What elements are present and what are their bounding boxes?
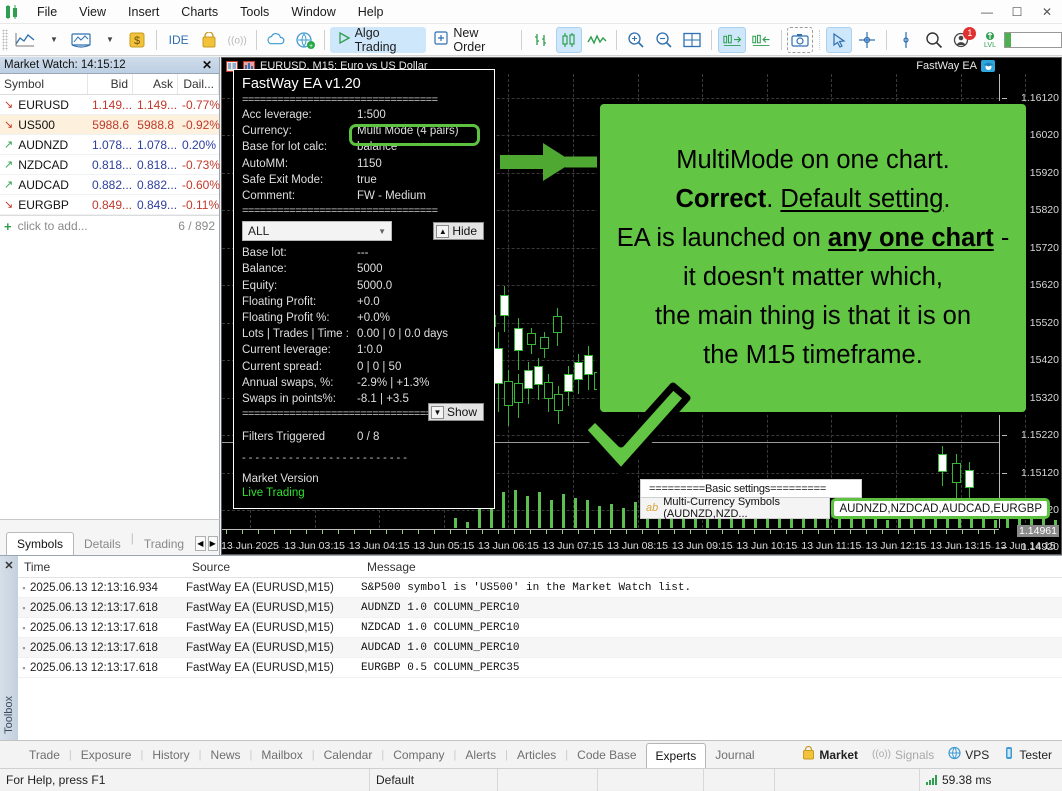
status-cell-6 [775, 769, 920, 791]
ea-stat-row: Current spread:0 | 0 | 50 [242, 359, 486, 375]
candlestick [504, 370, 513, 426]
restore-icon[interactable]: ☐ [1002, 0, 1032, 24]
ea-filters-label: Filters Triggered [242, 429, 357, 445]
candlestick [494, 332, 503, 412]
settings-param-row: ab Multi-Currency Symbols (AUDNZD,NZD... [640, 498, 830, 519]
price-tick [1002, 98, 1007, 99]
log-time: 2025.06.13 12:13:17.618 [30, 622, 186, 634]
time-label: 13 Jun 2025 [221, 540, 279, 552]
toolbox-tab-journal[interactable]: Journal [706, 745, 763, 765]
triangle-down-icon: ▼ [431, 406, 444, 419]
toolbox-tab-company[interactable]: Company [384, 745, 453, 765]
log-message: S&P500 symbol is 'US500' in the Market W… [361, 582, 1062, 594]
bid-cell: 1.149... [88, 98, 133, 112]
toolbox-tab-alerts[interactable]: Alerts [456, 745, 505, 765]
candlestick-type-icon[interactable] [556, 27, 582, 53]
ask-cell: 1.078... [133, 138, 178, 152]
chevron-down-icon-1[interactable]: ▼ [40, 27, 66, 53]
symbol-label: AUDCAD [18, 178, 69, 192]
chevron-down-icon-2[interactable]: ▼ [96, 27, 122, 53]
callout-line-2-end: . [943, 185, 950, 213]
ea-stat-label: Floating Profit: [242, 294, 357, 310]
ea-panel-title: FastWay EA v1.20 [242, 76, 486, 92]
candlestick [540, 332, 549, 358]
arrow-up-icon: ↗ [4, 138, 13, 151]
ea-stat-label: Equity: [242, 278, 357, 294]
symbol-count: 6 / 892 [178, 219, 215, 233]
callout-line-2-underline: Default setting [780, 185, 943, 213]
algo-trading-label: Algo Trading [355, 26, 419, 54]
toolbox-tab-trade[interactable]: Trade [20, 745, 69, 765]
ea-stat-value: 5000 [357, 261, 383, 277]
ea-rows-top: Acc leverage:1:500Currency:Multi Mode (4… [242, 107, 486, 204]
ea-smiley-icon [981, 60, 995, 72]
toolbox-tab-experts[interactable]: Experts [646, 743, 707, 769]
row-marker-icon: ▪ [18, 663, 30, 673]
vps-icon[interactable]: + [292, 27, 318, 53]
ea-separator-1: ================================= [242, 94, 486, 106]
toolbox-vertical-label: Toolbox [3, 696, 15, 734]
chevron-down-icon: ▼ [378, 227, 386, 236]
menu-charts[interactable]: Charts [170, 2, 229, 22]
zoom-in-icon[interactable] [623, 27, 649, 53]
market-bag-icon[interactable] [196, 27, 222, 53]
market-watch-rows: ↘EURUSD1.149...1.149...-0.77%↘US5005988.… [0, 95, 219, 215]
bid-cell: 0.818... [88, 158, 133, 172]
candlestick [534, 358, 543, 400]
ea-stat-label: Lots | Trades | Time : [242, 326, 357, 342]
level-icon[interactable]: LVL [977, 27, 1003, 53]
toolbox-tab-history[interactable]: History [143, 745, 198, 765]
time-label: 13 Jun 10:15 [736, 540, 797, 552]
dollar-icon[interactable]: $ [124, 27, 150, 53]
ea-separator-dashed: - - - - - - - - - - - - - - - - - - - - … [242, 452, 486, 464]
bid-cell: 0.882... [88, 178, 133, 192]
level-progress-bar [1004, 32, 1062, 48]
tab-symbols[interactable]: Symbols [6, 532, 74, 556]
volume-bar [850, 518, 853, 528]
bid-cell: 0.849... [88, 198, 133, 212]
column-header-daily[interactable]: Dail... [178, 74, 219, 94]
ea-info-label: Acc leverage: [242, 107, 357, 123]
time-label: 13 Jun 09:15 [672, 540, 733, 552]
log-time: 2025.06.13 12:13:17.618 [30, 642, 186, 654]
ea-info-label: Base for lot calc: [242, 139, 357, 155]
ea-stat-value: -8.1 | +3.5 [357, 391, 409, 407]
candlestick [524, 362, 533, 404]
volume-bar [550, 500, 553, 528]
log-header: Time Source Message [18, 556, 1062, 578]
ea-stat-label: Base lot: [242, 245, 357, 261]
ea-info-value: FW - Medium [357, 188, 426, 204]
column-header-ask[interactable]: Ask [133, 74, 178, 94]
ea-info-value: 1:500 [357, 107, 386, 123]
symbol-label: NZDCAD [18, 158, 68, 172]
toolbox-panel: ✕ Toolbox Time Source Message ▪2025.06.1… [0, 555, 1062, 740]
status-cell-4 [598, 769, 704, 791]
market-watch-tabs: Symbols Details | Trading ◀ ▶ [0, 519, 220, 555]
status-profile[interactable]: Default [370, 769, 498, 791]
time-label: 13 Jun 13:15 [930, 540, 991, 552]
ask-cell: 0.818... [133, 158, 178, 172]
toolbox-close-icon[interactable]: ✕ [4, 559, 13, 572]
tabs-next-button[interactable]: ▶ [208, 536, 218, 551]
daily-change-cell: -0.60% [178, 178, 219, 192]
ea-market-version: Market Version [242, 473, 486, 485]
algo-trading-button[interactable]: Algo Trading [330, 27, 427, 53]
symbol-cell: ↘US500 [0, 118, 88, 132]
ask-cell: 5988.8 [133, 118, 178, 132]
volume-bar [454, 518, 457, 528]
toolbox-tab-code-base[interactable]: Code Base [568, 745, 645, 765]
market-watch-row-audcad[interactable]: ↗AUDCAD0.882...0.882...-0.60% [0, 175, 219, 195]
volume-bar [610, 504, 613, 528]
vps-icon [948, 746, 961, 763]
tabs-prev-button[interactable]: ◀ [195, 536, 205, 551]
ea-symbol-select[interactable]: ALL ▼ [242, 221, 392, 241]
auto-scroll-icon[interactable] [748, 27, 774, 53]
annotation-callout: MultiMode on one chart. Correct. Default… [597, 101, 1029, 415]
log-time: 2025.06.13 12:13:17.618 [30, 662, 186, 674]
bid-cell: 5988.6 [88, 118, 133, 132]
ea-info-row: Acc leverage:1:500 [242, 107, 486, 123]
menu-help[interactable]: Help [347, 2, 395, 22]
window-controls: — ☐ ✕ [972, 0, 1062, 24]
time-axis[interactable]: 13 Jun 202513 Jun 03:1513 Jun 04:1513 Ju… [222, 528, 999, 554]
ask-cell: 1.149... [133, 98, 178, 112]
market-watch-add-row[interactable]: + click to add... 6 / 892 [0, 215, 219, 236]
symbol-label: US500 [18, 118, 55, 132]
volume-bar [994, 520, 997, 528]
bar-chart-icon[interactable] [68, 27, 94, 53]
ea-stat-row: Balance:5000 [242, 261, 486, 277]
signal-strength-icon [926, 775, 937, 785]
row-marker-icon: ▪ [18, 623, 30, 633]
status-cell-5 [704, 769, 775, 791]
signals-tab-label: Signals [895, 748, 934, 762]
row-marker-icon: ▪ [18, 603, 30, 613]
ea-stat-row: Current leverage:1:0.0 [242, 342, 486, 358]
ea-stat-value: --- [357, 245, 369, 261]
settings-param-label: Multi-Currency Symbols (AUDNZD,NZD... [663, 496, 829, 520]
volume-bar [586, 500, 589, 528]
status-cell-3 [498, 769, 598, 791]
ea-info-value: true [357, 172, 377, 188]
log-row[interactable]: ▪2025.06.13 12:13:17.618FastWay EA (EURU… [18, 638, 1062, 658]
candlestick [564, 366, 573, 406]
add-symbol-label: click to add... [18, 219, 88, 233]
toolbox-tab-articles[interactable]: Articles [508, 745, 565, 765]
log-message: AUDCAD 1.0 COLUMN_PERC10 [361, 642, 1062, 654]
volume-bar [598, 506, 601, 528]
log-row[interactable]: ▪2025.06.13 12:13:17.618FastWay EA (EURU… [18, 618, 1062, 638]
column-header-source[interactable]: Source [186, 556, 361, 577]
vertical-line-icon[interactable] [893, 27, 919, 53]
market-tab-label: Market [819, 748, 858, 762]
volume-bar [634, 502, 637, 528]
toolbox-tab-bar: Trade|Exposure|History|News|Mailbox|Cale… [0, 740, 1062, 768]
symbol-cell: ↘EURUSD [0, 98, 88, 112]
ea-stat-row: Floating Profit:+0.0 [242, 294, 486, 310]
ea-filters-value: 0 / 8 [357, 429, 379, 445]
callout-line-3-pre: EA is launched on [617, 224, 828, 252]
ea-show-label: Show [447, 405, 477, 419]
ea-symbol-select-value: ALL [248, 224, 269, 238]
symbol-label: EURUSD [18, 98, 69, 112]
market-watch-row-nzdcad[interactable]: ↗NZDCAD0.818...0.818...-0.73% [0, 155, 219, 175]
ea-info-row: Safe Exit Mode:true [242, 172, 486, 188]
symbol-label: AUDNZD [18, 138, 68, 152]
candlestick [527, 328, 536, 354]
ea-stat-value: 0 | 0 | 50 [357, 359, 401, 375]
tester-tab[interactable]: Tester [1003, 746, 1052, 763]
line-chart-icon[interactable] [12, 27, 38, 53]
row-marker-icon: ▪ [18, 643, 30, 653]
experts-log[interactable]: Time Source Message ▪2025.06.13 12:13:16… [18, 556, 1062, 740]
triangle-up-icon: ▲ [436, 225, 449, 238]
green-checkmark-annotation [575, 372, 695, 477]
toolbar-grip[interactable] [2, 29, 8, 51]
svg-text:+: + [309, 43, 313, 49]
volume-bar [502, 492, 505, 528]
arrow-down-icon: ↘ [4, 198, 13, 211]
log-source: FastWay EA (EURUSD,M15) [186, 642, 361, 654]
column-header-message[interactable]: Message [361, 556, 1062, 577]
plus-square-icon [434, 31, 448, 48]
time-label: 13 Jun 06:15 [478, 540, 539, 552]
toolbox-tab-right-items: Market ((o)) Signals VPS Tester [802, 746, 1062, 763]
log-message: EURGBP 0.5 COLUMN_PERC35 [361, 662, 1062, 674]
candlestick [500, 286, 509, 332]
time-label: 13 Jun 04:15 [349, 540, 410, 552]
candlestick [554, 386, 563, 424]
log-time: 2025.06.13 12:13:16.934 [30, 582, 186, 594]
ea-info-row: AutoMM:1150 [242, 156, 486, 172]
daily-change-cell: -0.77% [178, 98, 219, 112]
ea-show-button[interactable]: ▼ Show [428, 403, 484, 421]
time-label: 13 Jun 07:15 [543, 540, 604, 552]
screenshot-icon[interactable] [787, 27, 813, 53]
signals-icon[interactable]: ((o)) [224, 27, 250, 53]
toolbox-tab-exposure[interactable]: Exposure [72, 745, 141, 765]
ea-stat-row: Base lot:--- [242, 245, 486, 261]
plus-icon: + [4, 219, 12, 234]
market-watch-row-eurgbp[interactable]: ↘EURGBP0.849...0.849...-0.11% [0, 195, 219, 215]
volume-bar [622, 508, 625, 528]
row-marker-icon: ▪ [18, 583, 30, 593]
toolbox-sidebar: ✕ Toolbox [0, 556, 18, 740]
ea-info-value: 1150 [357, 156, 382, 172]
play-icon [338, 32, 350, 47]
status-help-text: For Help, press F1 [0, 769, 370, 791]
tab-details[interactable]: Details [74, 533, 131, 555]
ea-hide-label: Hide [452, 224, 477, 238]
menu-file[interactable]: File [26, 2, 68, 22]
market-watch-title: Market Watch: 14:15:12 [4, 59, 126, 71]
toolbox-tab-calendar[interactable]: Calendar [315, 745, 382, 765]
log-row[interactable]: ▪2025.06.13 12:13:16.934FastWay EA (EURU… [18, 578, 1062, 598]
volume-bar [982, 518, 985, 528]
time-label: 13 Jun 08:15 [607, 540, 668, 552]
ea-hide-button[interactable]: ▲ Hide [433, 222, 484, 240]
metatrader-logo-icon [0, 5, 26, 19]
bid-cell: 1.078... [88, 138, 133, 152]
log-message: AUDNZD 1.0 COLUMN_PERC10 [361, 602, 1062, 614]
ea-stat-label: Swaps in points%: [242, 391, 357, 407]
market-watch-panel: Market Watch: 14:15:12 ✕ Symbol Bid Ask … [0, 57, 220, 519]
ide-button[interactable]: IDE [163, 27, 194, 53]
daily-change-cell: -0.92% [178, 118, 219, 132]
svg-text:LVL: LVL [984, 42, 996, 49]
ea-stat-value: +0.0% [357, 310, 390, 326]
status-ping: 59.38 ms [920, 769, 1062, 791]
tester-tab-label: Tester [1019, 748, 1052, 762]
market-watch-close-icon[interactable]: ✕ [199, 58, 215, 72]
status-bar: For Help, press F1 Default 59.38 ms [0, 768, 1062, 790]
ea-stat-label: Floating Profit %: [242, 310, 357, 326]
ea-live-trading-status: Live Trading [242, 487, 486, 499]
toolbox-tab-news[interactable]: News [202, 745, 250, 765]
tester-icon [1003, 746, 1015, 763]
callout-line-2-dot: . [766, 185, 780, 213]
log-row[interactable]: ▪2025.06.13 12:13:17.618FastWay EA (EURU… [18, 658, 1062, 678]
signals-tab[interactable]: ((o)) Signals [872, 748, 934, 762]
menu-view[interactable]: View [68, 2, 117, 22]
price-tick [1002, 473, 1007, 474]
symbol-label: EURGBP [18, 198, 69, 212]
time-label: 13 Jun 11:15 [801, 540, 861, 552]
market-watch-row-audnzd[interactable]: ↗AUDNZD1.078...1.078...0.20% [0, 135, 219, 155]
svg-text:((o)): ((o)) [228, 35, 247, 46]
ea-stat-value: 1:0.0 [357, 342, 383, 358]
notification-badge: 1 [963, 27, 976, 40]
market-watch-row-us500[interactable]: ↘US5005988.65988.8-0.92% [0, 115, 219, 135]
volume-bar [946, 518, 949, 528]
log-source: FastWay EA (EURUSD,M15) [186, 582, 361, 594]
time-label: 13 Jun 14:15 [995, 540, 1056, 552]
settings-param-value: AUDNZD,NZDCAD,AUDCAD,EURGBP [831, 498, 1050, 519]
profile-icon[interactable]: 1 [949, 27, 975, 53]
ea-stat-row: Lots | Trades | Time :0.00 | 0 | 0.0 day… [242, 326, 486, 342]
callout-line-5: the M15 timeframe. [703, 341, 923, 369]
log-source: FastWay EA (EURUSD,M15) [186, 622, 361, 634]
column-header-bid[interactable]: Bid [88, 74, 133, 94]
cursor-icon[interactable] [826, 27, 852, 53]
line-type-icon[interactable] [584, 27, 610, 53]
chart-shift-icon[interactable] [718, 27, 746, 53]
status-ping-label: 59.38 ms [942, 773, 991, 787]
ea-info-row: Comment:FW - Medium [242, 188, 486, 204]
log-time: 2025.06.13 12:13:17.618 [30, 602, 186, 614]
price-label: 1.15120 [1021, 467, 1059, 479]
tab-trading[interactable]: Trading [134, 533, 194, 555]
ea-stat-row: Equity:5000.0 [242, 278, 486, 294]
callout-line-2-bold: Correct [676, 185, 767, 213]
ea-stat-label: Current leverage: [242, 342, 357, 358]
grid-icon[interactable] [679, 27, 705, 53]
daily-change-cell: 0.20% [178, 138, 219, 152]
ask-cell: 0.882... [133, 178, 178, 192]
current-price-label: 1.14961 [1017, 525, 1059, 537]
volume-bar [526, 496, 529, 528]
ea-separator-2: ================================= [242, 205, 486, 217]
market-tab[interactable]: Market [802, 746, 858, 763]
price-label: 1.15220 [1021, 429, 1059, 441]
ea-info-label: Comment: [242, 188, 357, 204]
search-icon[interactable] [921, 27, 947, 53]
vps-tab[interactable]: VPS [948, 746, 989, 763]
candlestick [544, 374, 553, 412]
ea-stat-label: Current spread: [242, 359, 357, 375]
time-label: 13 Jun 12:15 [866, 540, 927, 552]
symbol-cell: ↗AUDNZD [0, 138, 88, 152]
ea-badge-label: FastWay EA [916, 60, 977, 72]
daily-change-cell: -0.73% [178, 158, 219, 172]
arrow-down-icon: ↘ [4, 98, 13, 111]
ask-cell: 0.849... [133, 198, 178, 212]
market-bag-icon [802, 746, 815, 763]
volume-bar [514, 490, 517, 528]
toolbox-tabs: Trade|Exposure|History|News|Mailbox|Cale… [20, 742, 764, 768]
volume-bar [886, 520, 889, 528]
column-header-symbol[interactable]: Symbol [0, 74, 88, 94]
ea-info-label: AutoMM: [242, 156, 357, 172]
log-source: FastWay EA (EURUSD,M15) [186, 662, 361, 674]
new-order-label: New Order [453, 26, 508, 54]
ea-stat-row: Annual swaps, %:-2.9% | +1.3% [242, 375, 486, 391]
symbol-cell: ↘EURGBP [0, 198, 88, 212]
ea-stat-label: Balance: [242, 261, 357, 277]
ea-stat-value: 5000.0 [357, 278, 392, 294]
menu-tools[interactable]: Tools [229, 2, 280, 22]
log-message: NZDCAD 1.0 COLUMN_PERC10 [361, 622, 1062, 634]
log-row[interactable]: ▪2025.06.13 12:13:17.618FastWay EA (EURU… [18, 598, 1062, 618]
arrow-up-icon: ↗ [4, 178, 13, 191]
ea-stat-value: -2.9% | +1.3% [357, 375, 429, 391]
symbol-cell: ↗AUDCAD [0, 178, 88, 192]
time-label: 13 Jun 05:15 [413, 540, 474, 552]
menu-bar: File View Insert Charts Tools Window Hel… [0, 0, 1062, 24]
toolbox-tab-mailbox[interactable]: Mailbox [252, 745, 311, 765]
crosshair-icon[interactable] [854, 27, 880, 53]
close-icon[interactable]: ✕ [1032, 0, 1062, 24]
ea-stat-label: Annual swaps, %: [242, 375, 357, 391]
volume-bar [574, 498, 577, 528]
daily-change-cell: -0.11% [178, 198, 219, 212]
column-header-time[interactable]: Time [18, 556, 186, 577]
main-toolbar: ▼ ▼ $ IDE ((o)) + Algo Trading New Order [0, 24, 1062, 56]
callout-line-4: the main thing is that it is on [655, 302, 971, 330]
signals-icon: ((o)) [872, 749, 891, 760]
zoom-out-icon[interactable] [651, 27, 677, 53]
menu-insert[interactable]: Insert [117, 2, 170, 22]
ea-stat-row: Floating Profit %:+0.0% [242, 310, 486, 326]
bar-chart-type-icon[interactable] [528, 27, 554, 53]
ea-stat-value: 0.00 | 0 | 0.0 days [357, 326, 448, 342]
new-order-button[interactable]: New Order [426, 27, 516, 53]
price-tick [1002, 435, 1007, 436]
callout-line-3-emph: any one chart [828, 224, 994, 252]
candlestick [514, 318, 523, 370]
log-source: FastWay EA (EURUSD,M15) [186, 602, 361, 614]
minimize-icon[interactable]: — [972, 0, 1002, 24]
market-watch-row-eurusd[interactable]: ↘EURUSD1.149...1.149...-0.77% [0, 95, 219, 115]
menu-window[interactable]: Window [280, 2, 346, 22]
market-watch-title-bar: Market Watch: 14:15:12 ✕ [0, 57, 219, 74]
cloud-icon[interactable] [263, 27, 289, 53]
settings-tooltip: =========Basic settings========= ab Mult… [640, 479, 1050, 519]
ea-stat-value: +0.0 [357, 294, 380, 310]
